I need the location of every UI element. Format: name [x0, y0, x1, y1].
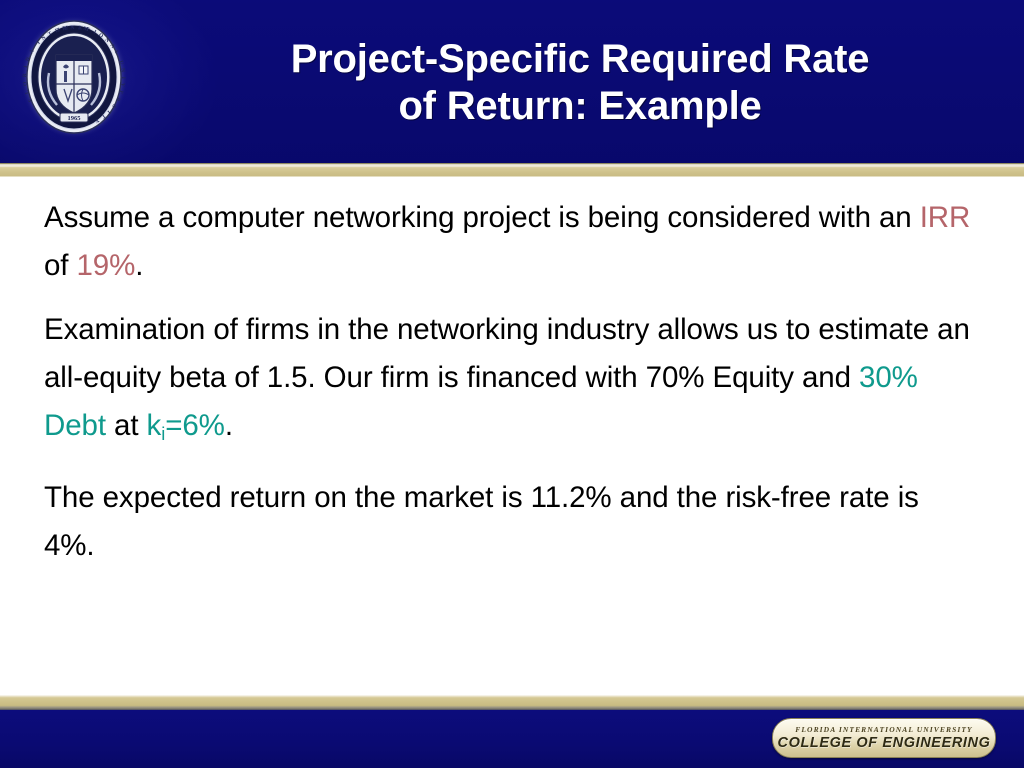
slide-header: 1965 F L O R I D A I N T [0, 0, 1024, 163]
paragraph-market: The expected return on the market is 11.… [44, 474, 974, 570]
text-run-plain-0: The expected return on the market is 11.… [44, 481, 919, 562]
text-run-plain-4: . [135, 249, 143, 282]
text-run-plain-2: at [106, 409, 147, 442]
slide-title-line-2: of Return: Example [398, 83, 761, 130]
slide-footer: FLORIDA INTERNATIONAL UNIVERSITY COLLEGE… [0, 710, 1024, 768]
paragraph-irr: Assume a computer networking project is … [44, 194, 974, 290]
slide-title-line-1: Project-Specific Required Rate [291, 36, 870, 83]
paragraph-beta: Examination of firms in the networking i… [44, 306, 974, 458]
text-run-teal-3: k [147, 409, 162, 442]
text-run-plain-6: . [225, 409, 233, 442]
svg-text:I: I [120, 77, 126, 79]
svg-text:A: A [70, 25, 74, 31]
gold-divider-bottom [0, 694, 1024, 710]
svg-text:R: R [22, 73, 28, 77]
body-paragraph-list: Assume a computer networking project is … [44, 194, 974, 570]
badge-college-label: COLLEGE OF ENGINEERING [778, 736, 991, 751]
slide-body: Assume a computer networking project is … [0, 178, 1024, 694]
svg-text:1965: 1965 [68, 115, 82, 122]
svg-text:M: M [62, 25, 68, 32]
gold-divider-top [0, 163, 1024, 178]
slide: 1965 F L O R I D A I N T [0, 0, 1024, 768]
text-run-teal-5: =6% [165, 409, 225, 442]
college-of-engineering-badge: FLORIDA INTERNATIONAL UNIVERSITY COLLEGE… [772, 718, 996, 758]
text-run-red-3: 19% [77, 249, 136, 282]
slide-title: Project-Specific Required Rate of Return… [150, 18, 1010, 148]
badge-university-label: FLORIDA INTERNATIONAL UNIVERSITY [795, 726, 972, 734]
text-run-plain-2: of [44, 249, 77, 282]
text-run-plain-0: Assume a computer networking project is … [44, 201, 920, 234]
fiu-seal-icon: 1965 F L O R I D A I N T [18, 13, 130, 141]
text-run-plain-0: Examination of firms in the networking i… [44, 313, 970, 394]
svg-text:O: O [22, 81, 29, 86]
text-run-red-1: IRR [920, 201, 971, 234]
